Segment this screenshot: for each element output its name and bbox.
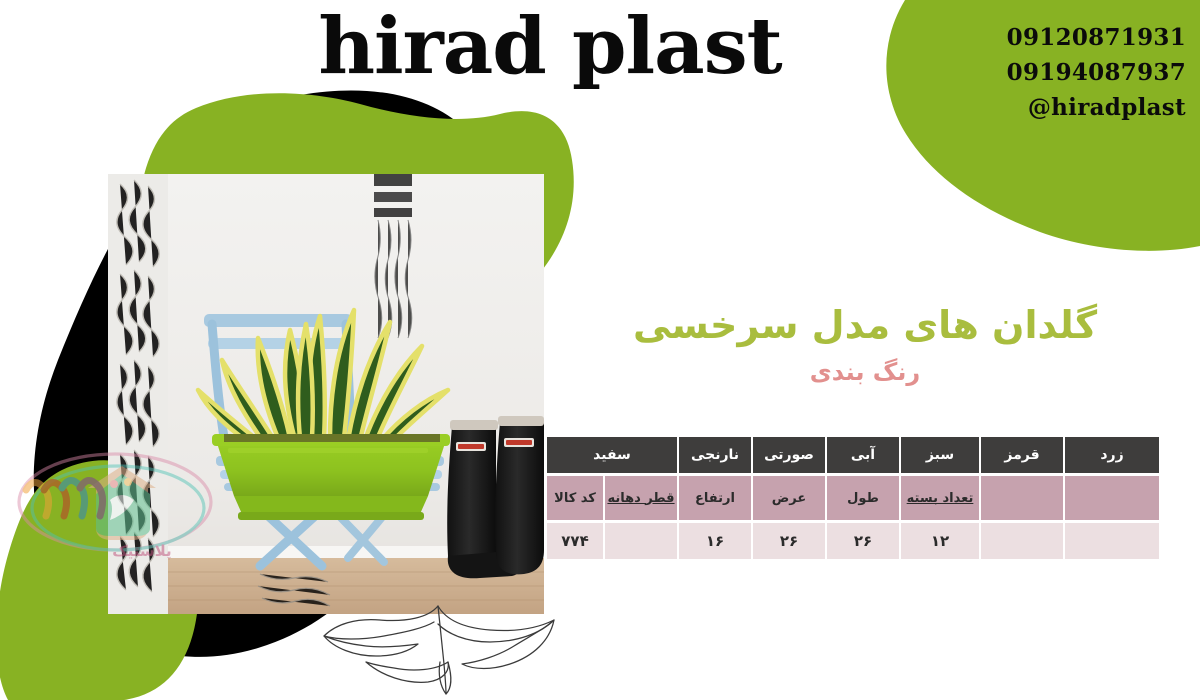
- value-cell-blank-1: [1065, 523, 1159, 559]
- spec-table-container: زرد قرمز سبز آبی صورتی نارنجی سفید تعداد…: [563, 434, 1161, 562]
- value-cell-blank-2: [981, 523, 1063, 559]
- monstera-leaf-line-art: [310, 600, 570, 695]
- label-cell-height: ارتفاع: [679, 476, 751, 520]
- label-cell-mouth-diameter: قطر دهانه: [605, 476, 677, 520]
- photo-green-planter: [212, 434, 450, 520]
- color-cell-zard[interactable]: زرد: [1065, 437, 1159, 473]
- product-info-panel: گلدان های مدل سرخسی رنگ بندی: [560, 300, 1170, 388]
- product-title: گلدان های مدل سرخسی: [560, 300, 1170, 350]
- value-cell-length: ۲۶: [827, 523, 899, 559]
- label-cell-product-code: کد کالا: [547, 476, 603, 520]
- color-cell-surati[interactable]: صورتی: [753, 437, 825, 473]
- color-cell-sefid[interactable]: سفید: [547, 437, 677, 473]
- brand-title: hirad plast: [210, 4, 890, 90]
- table-row-values: ۱۲ ۲۶ ۲۶ ۱۶ ۷۷۴: [547, 523, 1159, 559]
- product-subtitle: رنگ بندی: [560, 356, 1170, 388]
- photo-fringed-rug: [108, 174, 168, 614]
- value-cell-package-count: ۱۲: [901, 523, 979, 559]
- photo-rubber-boots: [447, 416, 544, 578]
- label-cell-width: عرض: [753, 476, 825, 520]
- phone-number-primary[interactable]: 09120871931: [976, 20, 1186, 55]
- color-cell-ghermez[interactable]: قرمز: [981, 437, 1063, 473]
- label-cell-package-count: تعداد بسته: [901, 476, 979, 520]
- product-photo: [108, 174, 544, 614]
- watermark-letters: [26, 480, 103, 516]
- specification-table: زرد قرمز سبز آبی صورتی نارنجی سفید تعداد…: [545, 434, 1161, 562]
- table-row-labels: تعداد بسته طول عرض ارتفاع قطر دهانه کد ک…: [547, 476, 1159, 520]
- value-cell-product-code: ۷۷۴: [547, 523, 603, 559]
- contact-block: 09120871931 09194087937 @hiradplast: [976, 20, 1186, 125]
- instagram-handle[interactable]: @hiradplast: [976, 90, 1186, 125]
- value-cell-mouth-diameter: [605, 523, 677, 559]
- table-row-colors: زرد قرمز سبز آبی صورتی نارنجی سفید: [547, 437, 1159, 473]
- color-cell-narenji[interactable]: نارنجی: [679, 437, 751, 473]
- label-cell-blank-2: [981, 476, 1063, 520]
- label-cell-length: طول: [827, 476, 899, 520]
- value-cell-width: ۲۶: [753, 523, 825, 559]
- phone-number-secondary[interactable]: 09194087937: [976, 55, 1186, 90]
- color-cell-sabz[interactable]: سبز: [901, 437, 979, 473]
- poster-canvas: hirad plast 09120871931 09194087937 @hir…: [0, 0, 1200, 700]
- label-cell-blank-1: [1065, 476, 1159, 520]
- color-cell-abi[interactable]: آبی: [827, 437, 899, 473]
- value-cell-height: ۱۶: [679, 523, 751, 559]
